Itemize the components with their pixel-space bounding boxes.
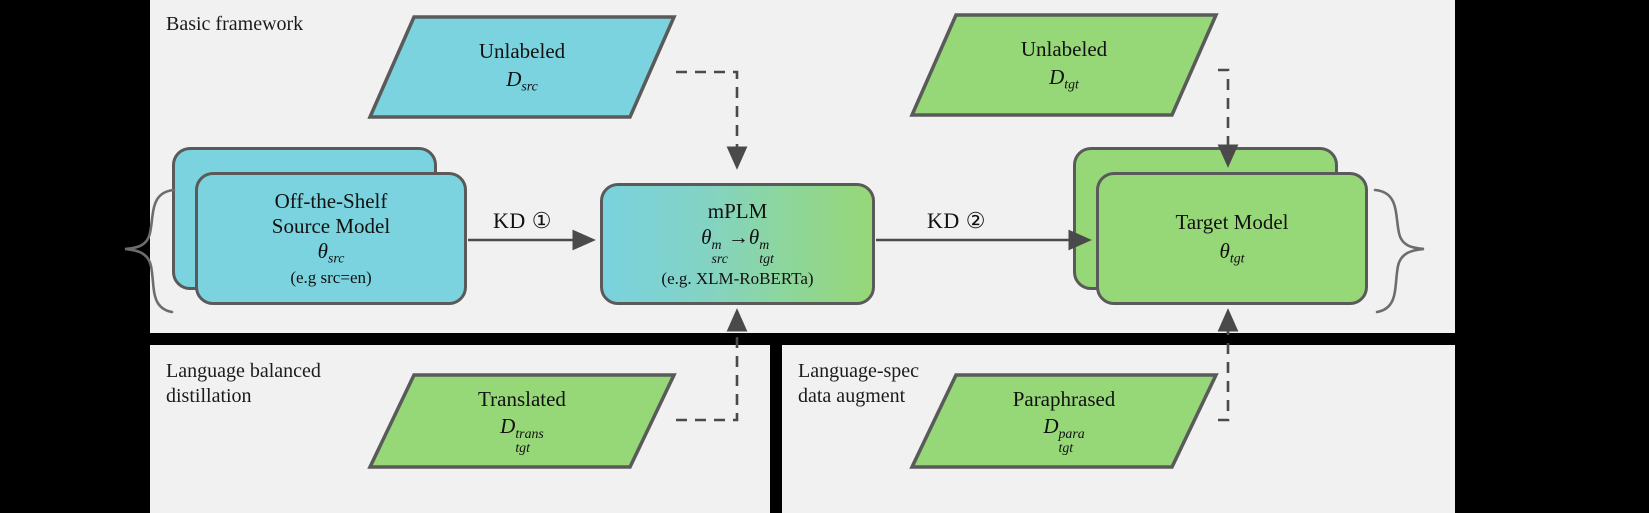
node-translated-tgt-line1: Translated bbox=[478, 387, 566, 412]
node-unlabeled-tgt-line1: Unlabeled bbox=[1021, 37, 1107, 62]
node-paraphrased-tgt-label: Paraphrased Dparatgt bbox=[1013, 387, 1116, 455]
node-paraphrased-tgt-symbol: Dparatgt bbox=[1013, 414, 1116, 455]
node-unlabeled-tgt[interactable]: Unlabeled Dtgt bbox=[910, 14, 1218, 116]
node-source-model-line2: Source Model bbox=[272, 214, 390, 239]
node-source-model-theta: θsrc bbox=[272, 239, 390, 267]
node-unlabeled-src-label: Unlabeled Dsrc bbox=[479, 39, 565, 94]
node-target-model-line1: Target Model bbox=[1175, 210, 1288, 235]
node-mplm-note: (e.g. XLM-RoBERTa) bbox=[661, 269, 813, 289]
node-target-model[interactable]: Target Model θtgt bbox=[1096, 172, 1368, 305]
node-source-model-line1: Off-the-Shelf bbox=[272, 189, 390, 214]
panel-basic-framework-title: Basic framework bbox=[166, 12, 303, 37]
node-source-model[interactable]: Off-the-Shelf Source Model θsrc (e.g src… bbox=[195, 172, 467, 305]
node-target-model-theta: θtgt bbox=[1175, 239, 1288, 267]
node-source-model-note: (e.g src=en) bbox=[272, 268, 390, 288]
edge-label-kd1: KD ① bbox=[493, 208, 552, 234]
diagram-canvas: Basic framework Language balanced distil… bbox=[0, 0, 1649, 513]
node-translated-tgt-symbol: Dtranstgt bbox=[478, 414, 566, 455]
node-paraphrased-tgt[interactable]: Paraphrased Dparatgt bbox=[910, 374, 1218, 468]
node-mplm-theta-transition: θmsrc→θmtgt bbox=[661, 225, 813, 266]
panel-language-balanced-distillation-title: Language balanced distillation bbox=[166, 359, 321, 409]
node-unlabeled-tgt-label: Unlabeled Dtgt bbox=[1021, 37, 1107, 92]
node-unlabeled-src[interactable]: Unlabeled Dsrc bbox=[368, 16, 676, 118]
node-translated-tgt-label: Translated Dtranstgt bbox=[478, 387, 566, 455]
node-mplm-line1: mPLM bbox=[661, 199, 813, 224]
node-paraphrased-tgt-line1: Paraphrased bbox=[1013, 387, 1116, 412]
node-unlabeled-src-symbol: Dsrc bbox=[479, 67, 565, 95]
node-unlabeled-tgt-symbol: Dtgt bbox=[1021, 65, 1107, 93]
node-translated-tgt[interactable]: Translated Dtranstgt bbox=[368, 374, 676, 468]
node-mplm[interactable]: mPLM θmsrc→θmtgt (e.g. XLM-RoBERTa) bbox=[600, 183, 875, 305]
edge-label-kd2: KD ② bbox=[927, 208, 986, 234]
node-unlabeled-src-line1: Unlabeled bbox=[479, 39, 565, 64]
panel-language-spec-data-augment-title: Language-spec data augment bbox=[798, 359, 919, 409]
